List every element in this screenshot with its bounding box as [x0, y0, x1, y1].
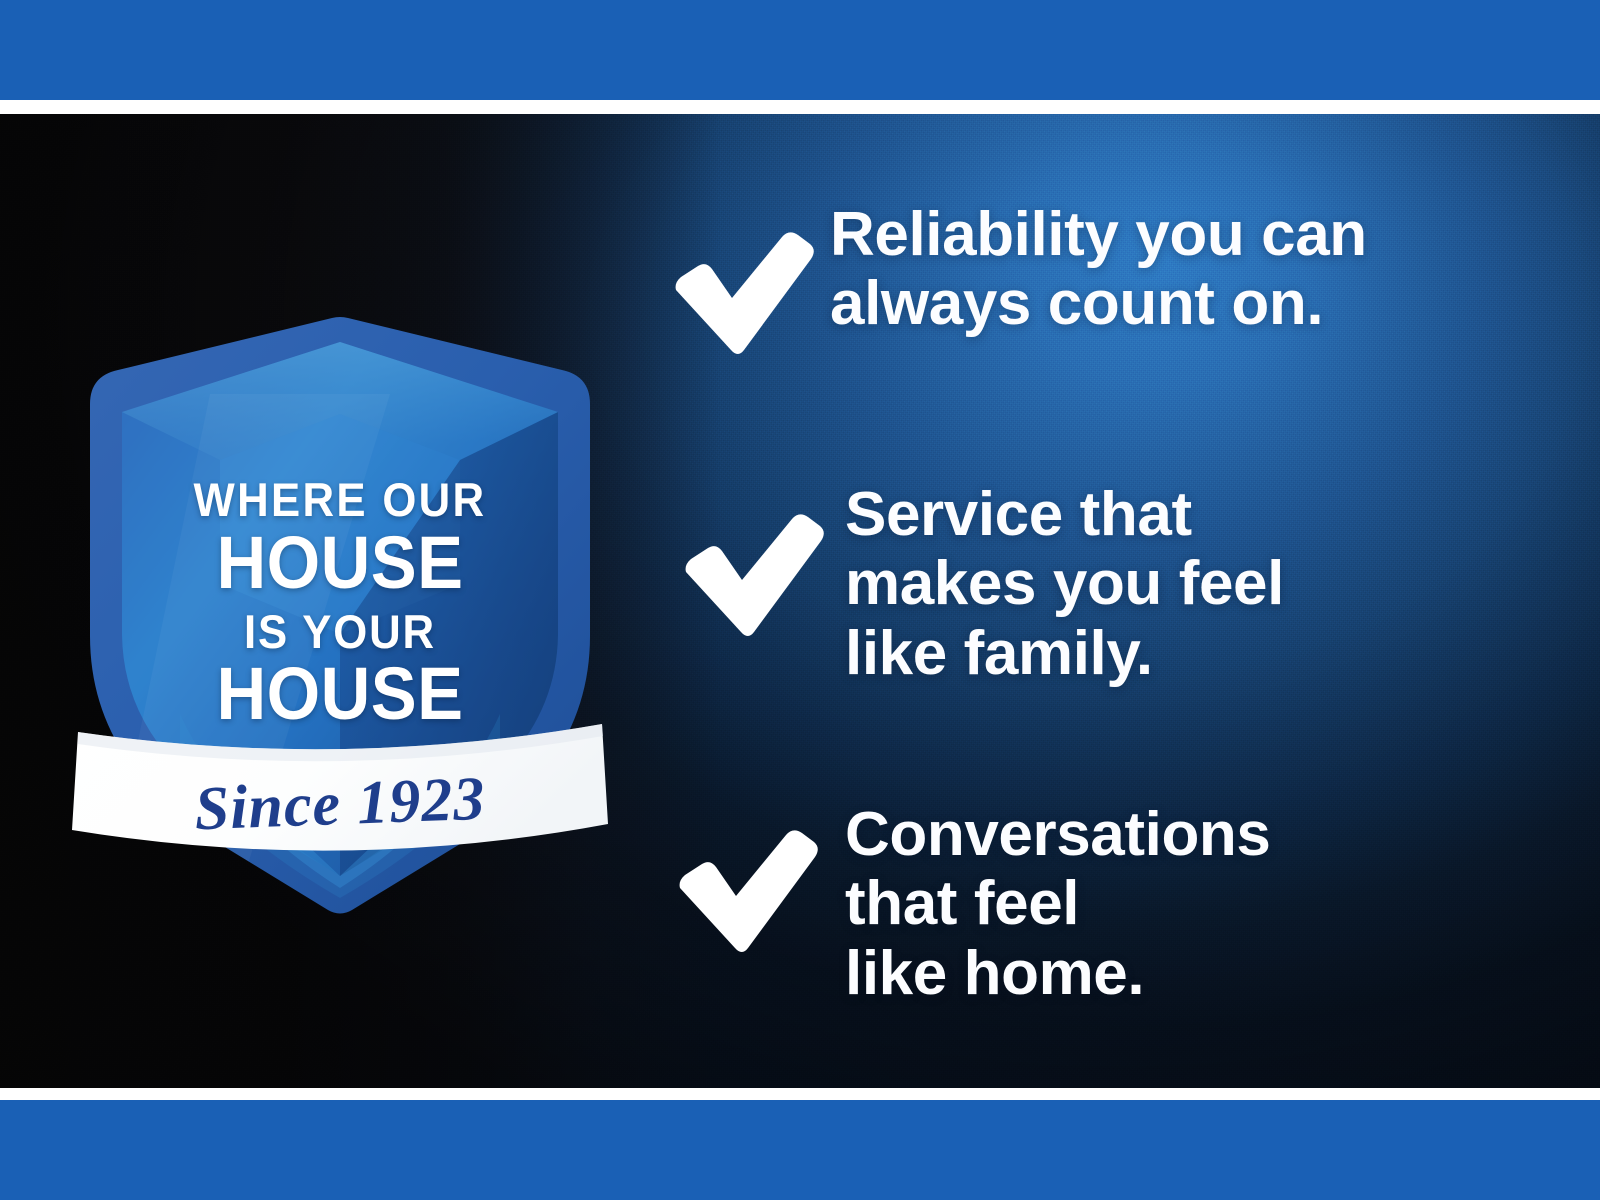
- checkmark-icon: [678, 510, 828, 640]
- shield-badge: WHERE OUR HOUSE IS YOUR HOUSE Since 1923: [60, 284, 620, 924]
- top-accent-bar: [0, 0, 1600, 100]
- badge-line-where: WHERE OUR: [80, 472, 601, 527]
- benefit-line: like home.: [845, 939, 1270, 1008]
- benefit-line: Reliability you can: [830, 200, 1367, 269]
- benefit-line: always count on.: [830, 269, 1367, 338]
- promo-graphic: WHERE OUR HOUSE IS YOUR HOUSE Since 1923…: [0, 0, 1600, 1200]
- badge-line-house-2: HOUSE: [80, 651, 601, 736]
- benefit-line: Conversations: [845, 800, 1270, 869]
- benefit-text-1: Reliability you can always count on.: [830, 200, 1367, 339]
- bottom-accent-bar: [0, 1100, 1600, 1200]
- benefit-line: makes you feel: [845, 549, 1284, 618]
- benefit-text-2: Service that makes you feel like family.: [845, 480, 1284, 688]
- benefit-line: Service that: [845, 480, 1284, 549]
- checkmark-icon: [672, 826, 822, 956]
- badge-line-house-1: HOUSE: [80, 520, 601, 605]
- benefit-line: that feel: [845, 869, 1270, 938]
- main-canvas: WHERE OUR HOUSE IS YOUR HOUSE Since 1923…: [0, 114, 1600, 1088]
- benefit-text-3: Conversations that feel like home.: [845, 800, 1270, 1008]
- benefit-line: like family.: [845, 619, 1284, 688]
- checkmark-icon: [668, 228, 818, 358]
